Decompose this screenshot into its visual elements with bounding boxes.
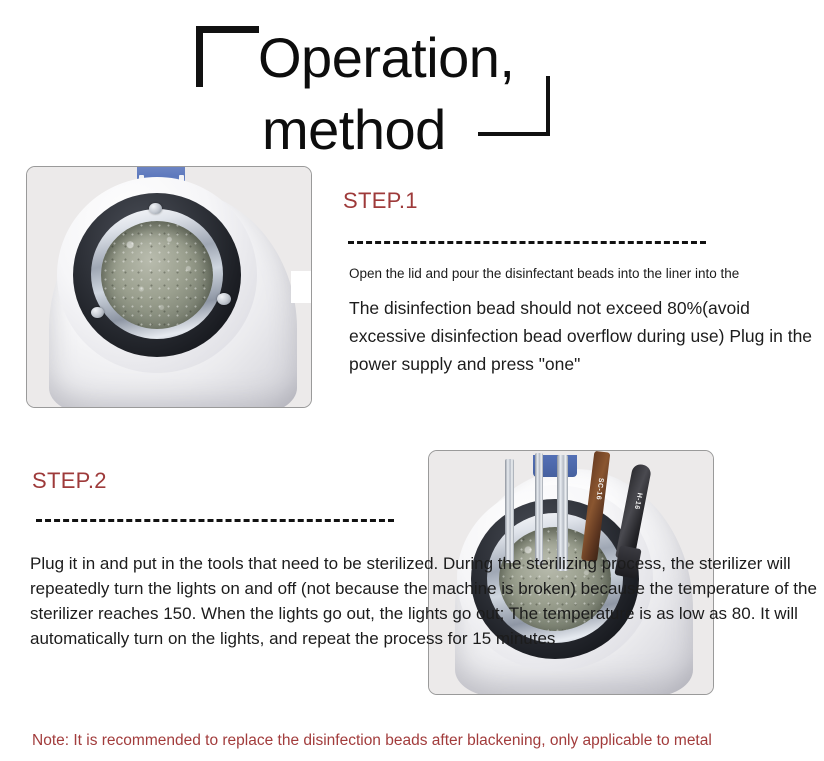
step-1-label: STEP.1 — [343, 188, 418, 214]
photo-1-content — [27, 167, 311, 407]
step-2-body-text: Plug it in and put in the tools that nee… — [30, 551, 820, 651]
tool-label-h16: H-16 — [633, 492, 643, 510]
page-title-line-2: method — [214, 94, 544, 166]
step-1-divider — [348, 241, 706, 244]
tool-metal-2 — [535, 453, 543, 565]
step-2-divider — [36, 519, 394, 522]
step-1-intro-text: Open the lid and pour the disinfectant b… — [349, 264, 819, 284]
page-title: Operation, method — [214, 22, 544, 166]
product-instruction-page: Operation, method STEP.1 Open the lid an… — [0, 0, 824, 761]
title-block: Operation, method — [196, 26, 556, 168]
tool-metal-1 — [505, 459, 514, 563]
glass-bead-chamber — [101, 221, 213, 329]
step-2-label: STEP.2 — [32, 468, 107, 494]
screw-left — [91, 307, 104, 318]
tool-label-sc16: SC-16 — [595, 477, 605, 500]
screw-right — [217, 293, 231, 305]
page-title-line-1: Operation, — [214, 22, 544, 94]
step-1-body-text: The disinfection bead should not exceed … — [349, 294, 823, 378]
housing-side-notch — [291, 271, 312, 303]
screw-top — [149, 203, 162, 214]
footer-note: Note: It is recommended to replace the d… — [32, 730, 818, 752]
bead-texture — [101, 221, 213, 329]
photo-sterilizer-open-with-beads — [26, 166, 312, 408]
